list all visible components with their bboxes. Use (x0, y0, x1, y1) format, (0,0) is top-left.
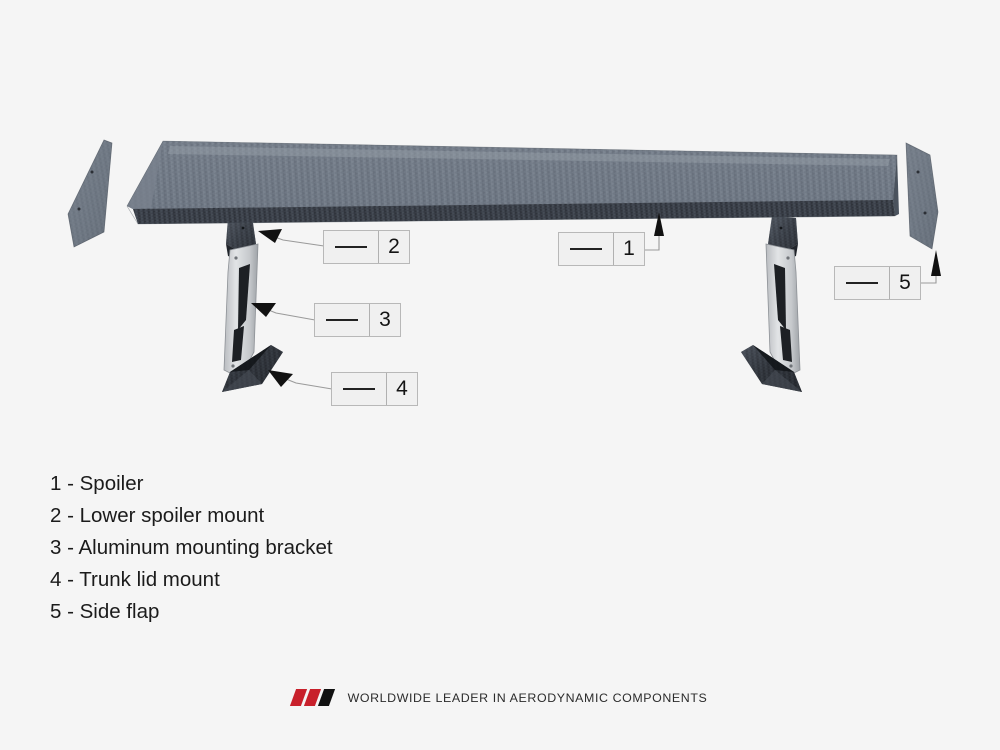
callout-dash-5 (835, 267, 890, 299)
legend-item-2: 2 - Lower spoiler mount (50, 500, 570, 532)
spoiler-artwork (0, 0, 1000, 750)
callout-box-5[interactable]: 5 (834, 266, 921, 300)
leader-line-3 (266, 309, 315, 320)
arrow-head-5 (931, 250, 941, 276)
legend-list: 1 - Spoiler 2 - Lower spoiler mount 3 - … (50, 468, 570, 628)
callout-dash-1 (559, 233, 614, 265)
right-side-flap (906, 143, 938, 249)
callout-number-1: 1 (614, 233, 644, 265)
arrow-head-4 (268, 370, 293, 387)
callout-box-2[interactable]: 2 (323, 230, 410, 264)
callout-box-3[interactable]: 3 (314, 303, 401, 337)
leader-line-4 (286, 379, 332, 389)
callout-number-3: 3 (370, 304, 400, 336)
callout-number-2: 2 (379, 231, 409, 263)
callout-dash-2 (324, 231, 379, 263)
callout-box-4[interactable]: 4 (331, 372, 418, 406)
diagram-stage: 1 2 3 4 5 1 - Spoiler 2 - Lower spoiler … (0, 0, 1000, 750)
callout-dash-3 (315, 304, 370, 336)
main-spoiler-wing (127, 141, 899, 224)
right-strut-assembly (741, 216, 802, 392)
brand-stripes-icon (293, 689, 335, 706)
footer-branding: WORLDWIDE LEADER IN AERODYNAMIC COMPONEN… (0, 689, 1000, 706)
legend-item-1: 1 - Spoiler (50, 468, 570, 500)
arrow-head-2 (258, 229, 282, 243)
callout-box-1[interactable]: 1 (558, 232, 645, 266)
legend-item-4: 4 - Trunk lid mount (50, 564, 570, 596)
leader-line-2 (272, 236, 324, 246)
legend-item-3: 3 - Aluminum mounting bracket (50, 532, 570, 564)
left-side-flap (68, 140, 112, 247)
callout-number-4: 4 (387, 373, 417, 405)
legend-item-5: 5 - Side flap (50, 596, 570, 628)
callout-number-5: 5 (890, 267, 920, 299)
footer-tagline: WORLDWIDE LEADER IN AERODYNAMIC COMPONEN… (348, 691, 708, 705)
callout-dash-4 (332, 373, 387, 405)
